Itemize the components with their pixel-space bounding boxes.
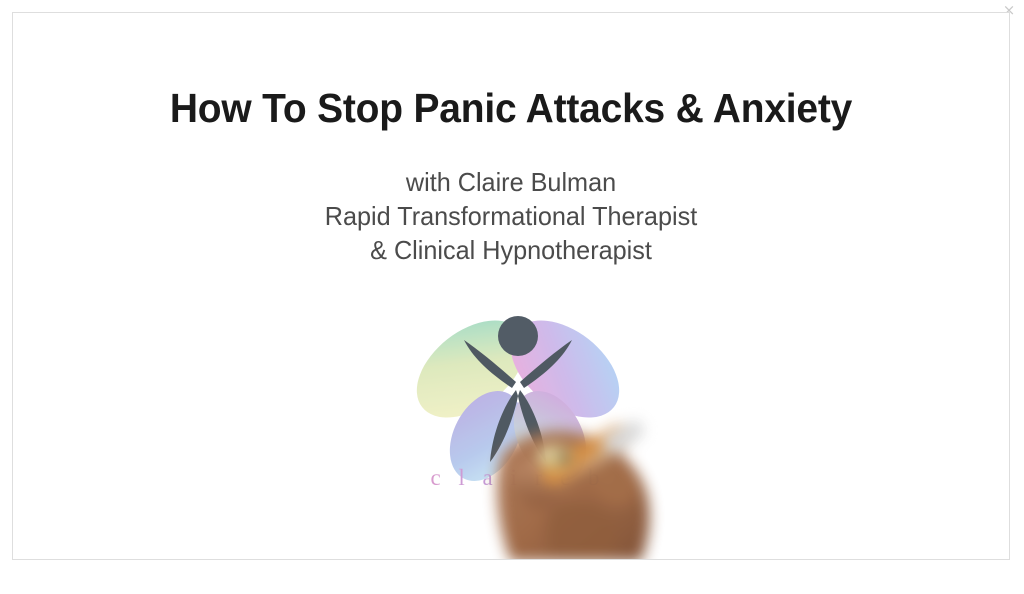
logo-wordmark: c l a i r e b xyxy=(398,465,638,491)
subtitle-line-2: Rapid Transformational Therapist xyxy=(28,199,994,233)
playback-control-bar xyxy=(0,560,1024,594)
slide-card[interactable]: How To Stop Panic Attacks & Anxiety with… xyxy=(12,12,1010,560)
slide-content: How To Stop Panic Attacks & Anxiety with… xyxy=(13,13,1009,559)
slide-title: How To Stop Panic Attacks & Anxiety xyxy=(38,85,984,132)
slide-subtitle: with Claire Bulman Rapid Transformationa… xyxy=(28,165,994,267)
presentation-viewer: × How To Stop Panic Attacks & Anxiety wi… xyxy=(0,0,1024,594)
subtitle-line-3: & Clinical Hypnotherapist xyxy=(28,233,994,267)
subtitle-line-1: with Claire Bulman xyxy=(28,165,994,199)
